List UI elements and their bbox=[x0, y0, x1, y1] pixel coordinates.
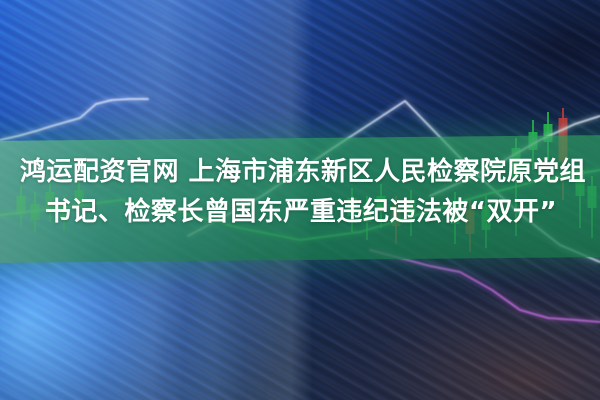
headline-text: 鸿运配资官网 上海市浦东新区人民检察院原党组 书记、检察长曾国东严重违纪违法被“… bbox=[0, 152, 600, 232]
banner-image: 鸿运配资官网 上海市浦东新区人民检察院原党组 书记、检察长曾国东严重违纪违法被“… bbox=[0, 0, 600, 400]
headline-line-2: 书记、检察长曾国东严重违纪违法被“双开” bbox=[0, 192, 600, 232]
headline-line-1: 鸿运配资官网 上海市浦东新区人民检察院原党组 bbox=[0, 152, 600, 192]
